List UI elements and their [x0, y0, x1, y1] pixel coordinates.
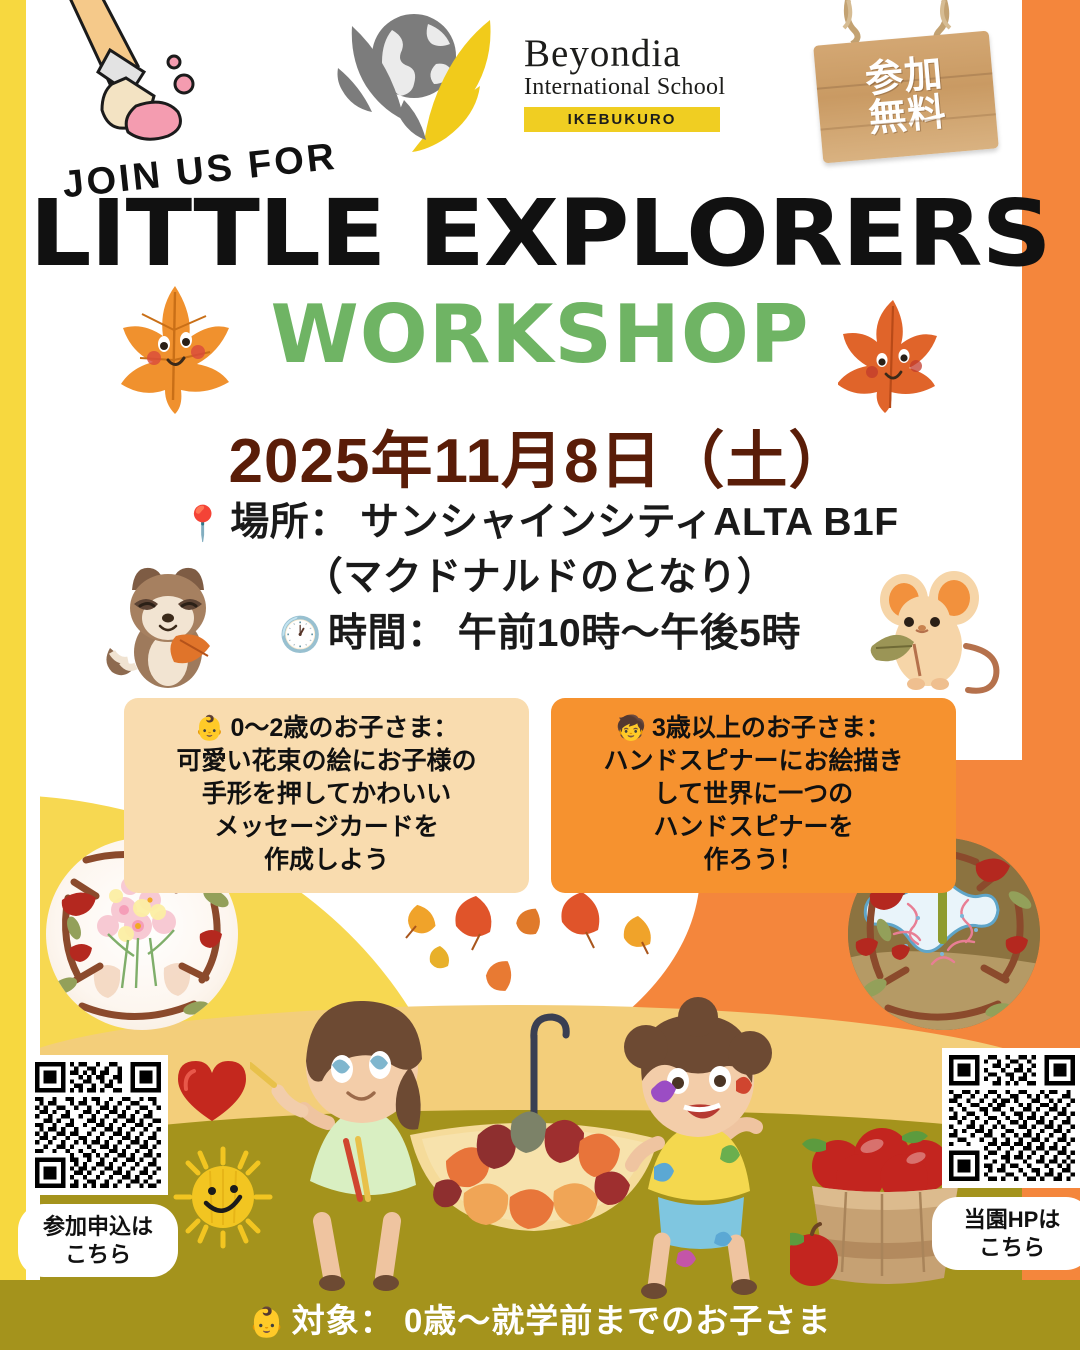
activity-0-line-1: 可愛い花束の絵にお子様の — [134, 745, 519, 778]
page-title: LITTLE EXPLORERS — [0, 188, 1080, 280]
winged-globe-logo-icon — [330, 8, 510, 158]
event-venue-note: （マクドナルドのとなり） — [0, 550, 1080, 605]
location-pin-icon: 📍 — [181, 505, 224, 543]
activity-0-line-4: 作成しよう — [134, 844, 519, 877]
poster-canvas: Beyondia International School IKEBUKURO … — [0, 0, 1080, 1350]
target-audience-footer: 👶対象： 0歳～就学前までのお子さま — [0, 1294, 1080, 1342]
activity-1-line-1: ハンドスピナーにお絵描き — [561, 745, 946, 778]
homepage-qr-label-line1: 当園HPは — [964, 1207, 1061, 1232]
homepage-qr-label-line2: こちら — [979, 1235, 1045, 1260]
application-qr-block[interactable]: 参加申込は こちら — [18, 1055, 178, 1277]
activity-card-1-heading: 🧒3歳以上のお子さま： — [561, 712, 946, 745]
heart-doodle-icon — [172, 1055, 252, 1125]
activity-1-line-2: して世界に一つの — [561, 778, 946, 811]
activity-cards: 👶0〜2歳のお子さま： 可愛い花束の絵にお子様の 手形を押してかわいい メッセー… — [0, 698, 1080, 893]
activity-1-line-3: ハンドスピナーを — [561, 811, 946, 844]
application-qr-label-line2: こちら — [65, 1242, 131, 1267]
sign-text: 参加 無料 — [864, 55, 948, 139]
event-time-line: 🕐時間： 午前10時～午後5時 — [0, 606, 1080, 661]
logo-subtitle: International School — [524, 74, 760, 102]
activity-card-1: 🧒3歳以上のお子さま： ハンドスピナーにお絵描き して世界に一つの ハンドスピナ… — [551, 698, 956, 893]
activity-card-0-heading: 👶0〜2歳のお子さま： — [134, 712, 519, 745]
activity-0-heading-text: 0〜2歳のお子さま： — [231, 714, 459, 742]
activity-0-line-2: 手形を押してかわいい — [134, 778, 519, 811]
sign-line-2: 無料 — [867, 92, 948, 141]
falling-leaves-icon — [380, 890, 710, 1040]
activity-0-line-3: メッセージカードを — [134, 811, 519, 844]
application-qr-code[interactable] — [28, 1055, 168, 1195]
event-date: 2025年11月8日（土） — [0, 410, 1080, 500]
sign-board: 参加 無料 — [813, 31, 999, 164]
activity-1-heading-text: 3歳以上のお子さま： — [652, 714, 891, 742]
homepage-qr-label[interactable]: 当園HPは こちら — [932, 1197, 1080, 1270]
application-qr-label-line1: 参加申込は — [43, 1214, 153, 1239]
homepage-qr-block[interactable]: 当園HPは こちら — [932, 1048, 1080, 1270]
child-icon: 🧒 — [616, 715, 646, 742]
logo-location-badge: IKEBUKURO — [524, 107, 720, 132]
event-venue-line: 📍場所： サンシャインシティALTA B1F — [0, 495, 1080, 550]
clock-icon: 🕐 — [279, 616, 322, 654]
application-qr-label[interactable]: 参加申込は こちら — [18, 1204, 178, 1277]
baby-icon: 👶 — [195, 715, 225, 742]
page-subtitle: WORKSHOP — [0, 295, 1080, 375]
event-venue: 場所： サンシャインシティALTA B1F — [230, 501, 898, 544]
activity-card-0: 👶0〜2歳のお子さま： 可愛い花束の絵にお子様の 手形を押してかわいい メッセー… — [124, 698, 529, 893]
sun-doodle-icon — [168, 1145, 278, 1250]
event-time: 時間： 午前10時～午後5時 — [328, 612, 801, 655]
logo-name: Beyondia — [524, 34, 760, 74]
baby-footer-icon: 👶 — [249, 1307, 286, 1339]
school-logo: Beyondia International School IKEBUKURO — [330, 8, 760, 158]
free-participation-sign: 参加 無料 — [806, 0, 1006, 175]
activity-1-line-4: 作ろう！ — [561, 844, 946, 877]
event-details: 📍場所： サンシャインシティALTA B1F （マクドナルドのとなり） 🕐時間：… — [0, 495, 1080, 661]
homepage-qr-code[interactable] — [942, 1048, 1080, 1188]
target-audience-text: 対象： 0歳～就学前までのお子さま — [292, 1302, 832, 1339]
paintbrush-icon — [52, 0, 202, 148]
